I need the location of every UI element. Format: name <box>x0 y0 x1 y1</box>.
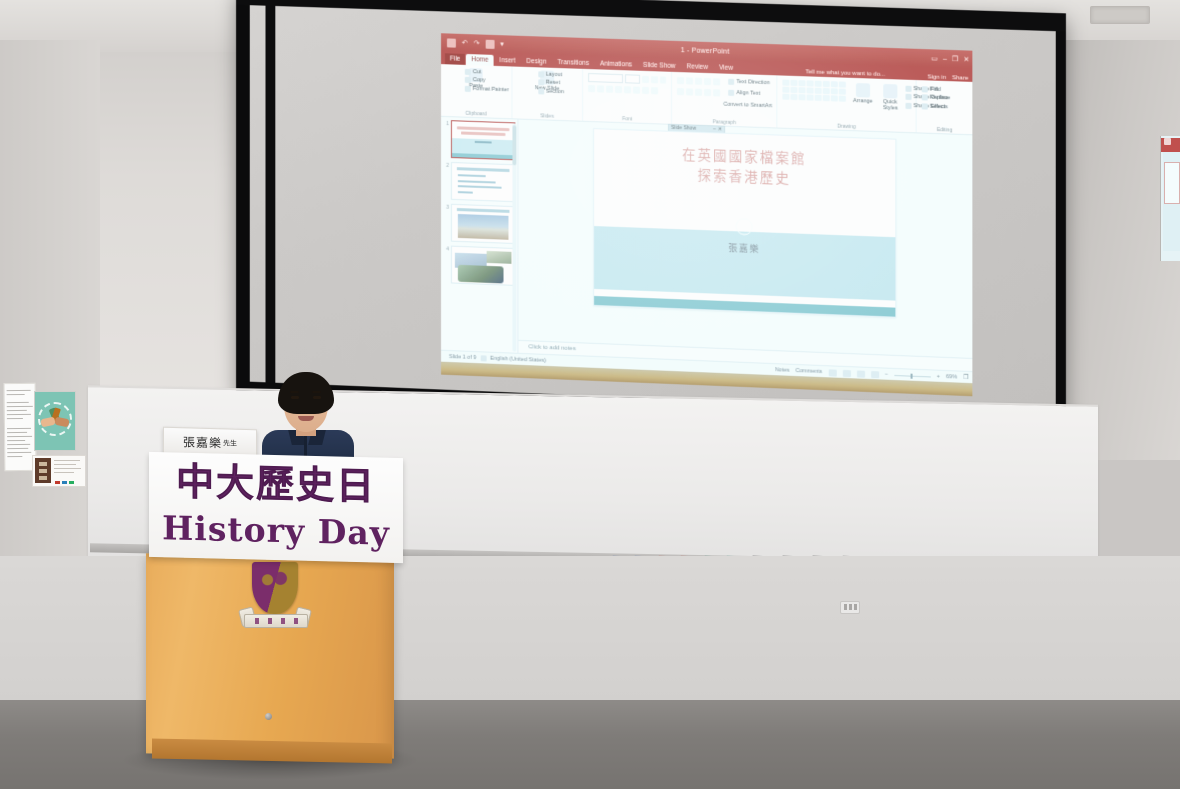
align-left-button[interactable] <box>677 88 684 95</box>
align-center-button[interactable] <box>686 88 693 95</box>
thumbnail-preview-2 <box>451 162 515 202</box>
slide-thumbnail-pane[interactable]: 1 2 <box>441 117 518 366</box>
slide-color-band <box>594 226 895 301</box>
slide-thumbnail-3[interactable]: 3 <box>443 203 515 244</box>
second-monitor <box>1160 136 1180 261</box>
nameplate-name: 張嘉樂 <box>183 433 222 451</box>
convert-to-smartart-button[interactable]: Convert to SmartArt <box>721 100 771 110</box>
ribbon-group-slides: New Slide Layout Reset Sec <box>512 66 583 120</box>
section-label: Section <box>546 87 564 96</box>
slide-title[interactable]: 在英國國家檔案館 探索香港歷史 <box>594 142 895 192</box>
presenter-hair <box>278 372 334 414</box>
nameplate-suffix: 先生 <box>223 438 237 448</box>
decrease-indent-button[interactable] <box>695 77 702 84</box>
numbering-button[interactable] <box>686 77 693 84</box>
event-banner: 中大歷史日 History Day <box>149 452 403 563</box>
poster-photo-panel <box>35 458 51 483</box>
podium-knob <box>265 713 272 720</box>
minimize-icon[interactable]: – <box>943 55 947 62</box>
increase-font-size-icon[interactable] <box>642 76 649 83</box>
second-monitor-slide-preview <box>1164 162 1180 204</box>
presenter-brow-right <box>312 391 321 393</box>
slide-sorter-view-button[interactable] <box>842 369 850 376</box>
increase-indent-button[interactable] <box>704 78 711 85</box>
slide-editing-pane[interactable]: Slide Show – ✕ Resume Slide Show 在英國國家檔案… <box>518 120 972 384</box>
format-painter-button[interactable]: Format Painter <box>465 84 509 94</box>
quick-styles-icon <box>883 84 897 99</box>
shapes-gallery[interactable] <box>782 80 845 111</box>
replace-icon <box>922 95 928 101</box>
ribbon-group-font: Font <box>583 69 672 124</box>
thumbnail-number-2: 2 <box>443 162 449 200</box>
presenter-eye-left <box>291 396 299 399</box>
ribbon-group-paragraph: Text Direction Align Text <box>672 72 777 128</box>
ribbon-group-drawing: Arrange Quick Styles Shape Fill <box>777 75 916 132</box>
strikethrough-button[interactable] <box>615 86 622 93</box>
shape-fill-icon <box>905 86 911 92</box>
copy-icon <box>465 77 471 83</box>
presenter-eye-right <box>313 396 321 399</box>
text-direction-icon <box>728 79 734 85</box>
layout-icon <box>538 71 544 77</box>
thumbnail-number-3: 3 <box>443 203 449 241</box>
presenter-person <box>258 372 358 464</box>
spellcheck-icon[interactable] <box>480 355 486 361</box>
crest-phoenix-icon <box>258 569 292 605</box>
ribbon-group-clipboard: Paste Cut Copy Format Pain <box>441 64 512 118</box>
notes-toggle-button[interactable]: Notes <box>775 367 789 374</box>
quick-styles-label: Quick Styles <box>883 99 898 112</box>
tab-view[interactable]: View <box>714 62 738 74</box>
projection-screen: ↶ ↷ ▾ 1 - PowerPoint ▭ – ❐ ✕ File Home I… <box>236 0 1066 429</box>
thumbnail-scrollbar[interactable] <box>512 123 516 351</box>
select-button[interactable]: Select <box>922 102 968 112</box>
restore-icon[interactable]: ❐ <box>952 55 958 63</box>
bold-button[interactable] <box>588 85 595 92</box>
justify-button[interactable] <box>704 89 711 96</box>
slide-circle-decoration <box>736 217 753 235</box>
tab-insert[interactable]: Insert <box>494 55 520 67</box>
second-monitor-save-icon <box>1164 138 1171 145</box>
cut-label: Cut <box>473 68 481 77</box>
powerpoint-workspace: 1 2 <box>441 117 972 383</box>
presenter-brow-left <box>290 391 299 393</box>
crest-scroll-band <box>244 614 308 628</box>
character-spacing-button[interactable] <box>633 87 640 94</box>
poster-green-campaign <box>34 391 76 451</box>
zoom-level: 69% <box>946 374 957 380</box>
thumbnail-preview-1 <box>451 120 515 160</box>
section-icon <box>538 88 544 94</box>
paintbrush-icon <box>465 85 471 91</box>
poster-brown-info <box>32 455 86 487</box>
window-controls[interactable]: ▭ – ❐ ✕ <box>931 54 969 63</box>
crest-scroll <box>240 604 310 630</box>
ribbon-group-editing: Find Replace Select Editing <box>917 80 973 134</box>
slide-thumbnail-4[interactable]: 4 <box>443 245 515 286</box>
align-right-button[interactable] <box>695 89 702 96</box>
shadow-button[interactable] <box>624 86 631 93</box>
reset-icon <box>538 80 544 86</box>
underline-button[interactable] <box>606 86 613 93</box>
scissors-icon <box>465 69 471 75</box>
text-direction-label: Text Direction <box>736 78 769 87</box>
shape-outline-icon <box>905 94 911 100</box>
powerpoint-window[interactable]: ↶ ↷ ▾ 1 - PowerPoint ▭ – ❐ ✕ File Home I… <box>441 33 972 383</box>
arrange-button[interactable]: Arrange <box>850 82 876 112</box>
zoom-out-icon[interactable]: − <box>885 372 888 378</box>
italic-button[interactable] <box>597 85 604 92</box>
columns-button[interactable] <box>713 89 720 96</box>
tab-file[interactable]: File <box>445 53 465 65</box>
presenter-mouth <box>298 416 314 421</box>
ceiling-vent <box>1090 6 1150 24</box>
font-color-button[interactable] <box>651 87 658 94</box>
banner-english-title: History Day <box>149 511 403 550</box>
align-text-button[interactable]: Align Text <box>728 89 760 98</box>
slide-thumbnail-1[interactable]: 1 <box>443 120 515 160</box>
thumbnail-number-1: 1 <box>443 120 449 158</box>
comments-toggle-button[interactable]: Comments <box>795 368 822 375</box>
screen-left-strut <box>266 6 276 383</box>
font-family-select[interactable] <box>588 73 623 83</box>
bullets-button[interactable] <box>677 77 684 84</box>
reading-view-button[interactable] <box>857 370 865 377</box>
cuhk-crest <box>240 562 310 640</box>
select-label: Select <box>930 102 946 111</box>
line-spacing-button[interactable] <box>713 78 720 85</box>
section-button[interactable]: Section <box>538 87 564 96</box>
left-wall <box>0 40 100 600</box>
zoom-in-icon[interactable]: + <box>937 374 940 380</box>
smartart-label: Convert to SmartArt <box>723 100 772 110</box>
wall-power-outlet <box>840 601 860 614</box>
font-size-select[interactable] <box>625 74 640 84</box>
decrease-font-size-icon[interactable] <box>651 76 658 83</box>
banner-chinese-title: 中大歷史日 <box>149 462 403 506</box>
clear-formatting-icon[interactable] <box>660 76 667 83</box>
slideshow-view-button[interactable] <box>871 371 879 378</box>
arrange-label: Arrange <box>853 98 873 105</box>
change-case-button[interactable] <box>642 87 649 94</box>
slide-thumbnail-2[interactable]: 2 <box>443 162 515 202</box>
screenshot-root: ↶ ↷ ▾ 1 - PowerPoint ▭ – ❐ ✕ File Home I… <box>0 0 1180 789</box>
text-direction-button[interactable]: Text Direction <box>728 78 770 88</box>
thumbnail-preview-3 <box>451 204 515 244</box>
second-monitor-title-bar <box>1161 138 1180 152</box>
close-icon[interactable]: ✕ <box>963 55 969 63</box>
thumbnail-number-4: 4 <box>443 245 449 283</box>
quick-styles-button[interactable]: Quick Styles <box>880 83 901 113</box>
current-slide[interactable]: 在英國國家檔案館 探索香港歷史 張嘉樂 <box>593 128 896 318</box>
thumbnail-preview-4 <box>451 246 515 286</box>
align-text-icon <box>728 90 734 96</box>
fit-slide-icon[interactable]: ❐ <box>963 375 968 381</box>
format-painter-label: Format Painter <box>473 85 509 94</box>
slide-counter: Slide 1 of 9 <box>449 354 476 361</box>
select-icon <box>922 103 928 109</box>
arrange-icon <box>856 83 870 98</box>
align-text-label: Align Text <box>736 89 760 98</box>
shape-effects-icon <box>905 102 911 108</box>
normal-view-button[interactable] <box>828 369 836 376</box>
language-indicator[interactable]: English (United States) <box>490 356 546 364</box>
zoom-slider[interactable] <box>894 374 930 376</box>
ribbon-display-options-icon[interactable]: ▭ <box>931 54 938 62</box>
tab-home[interactable]: Home <box>466 54 493 66</box>
search-icon <box>922 86 928 92</box>
